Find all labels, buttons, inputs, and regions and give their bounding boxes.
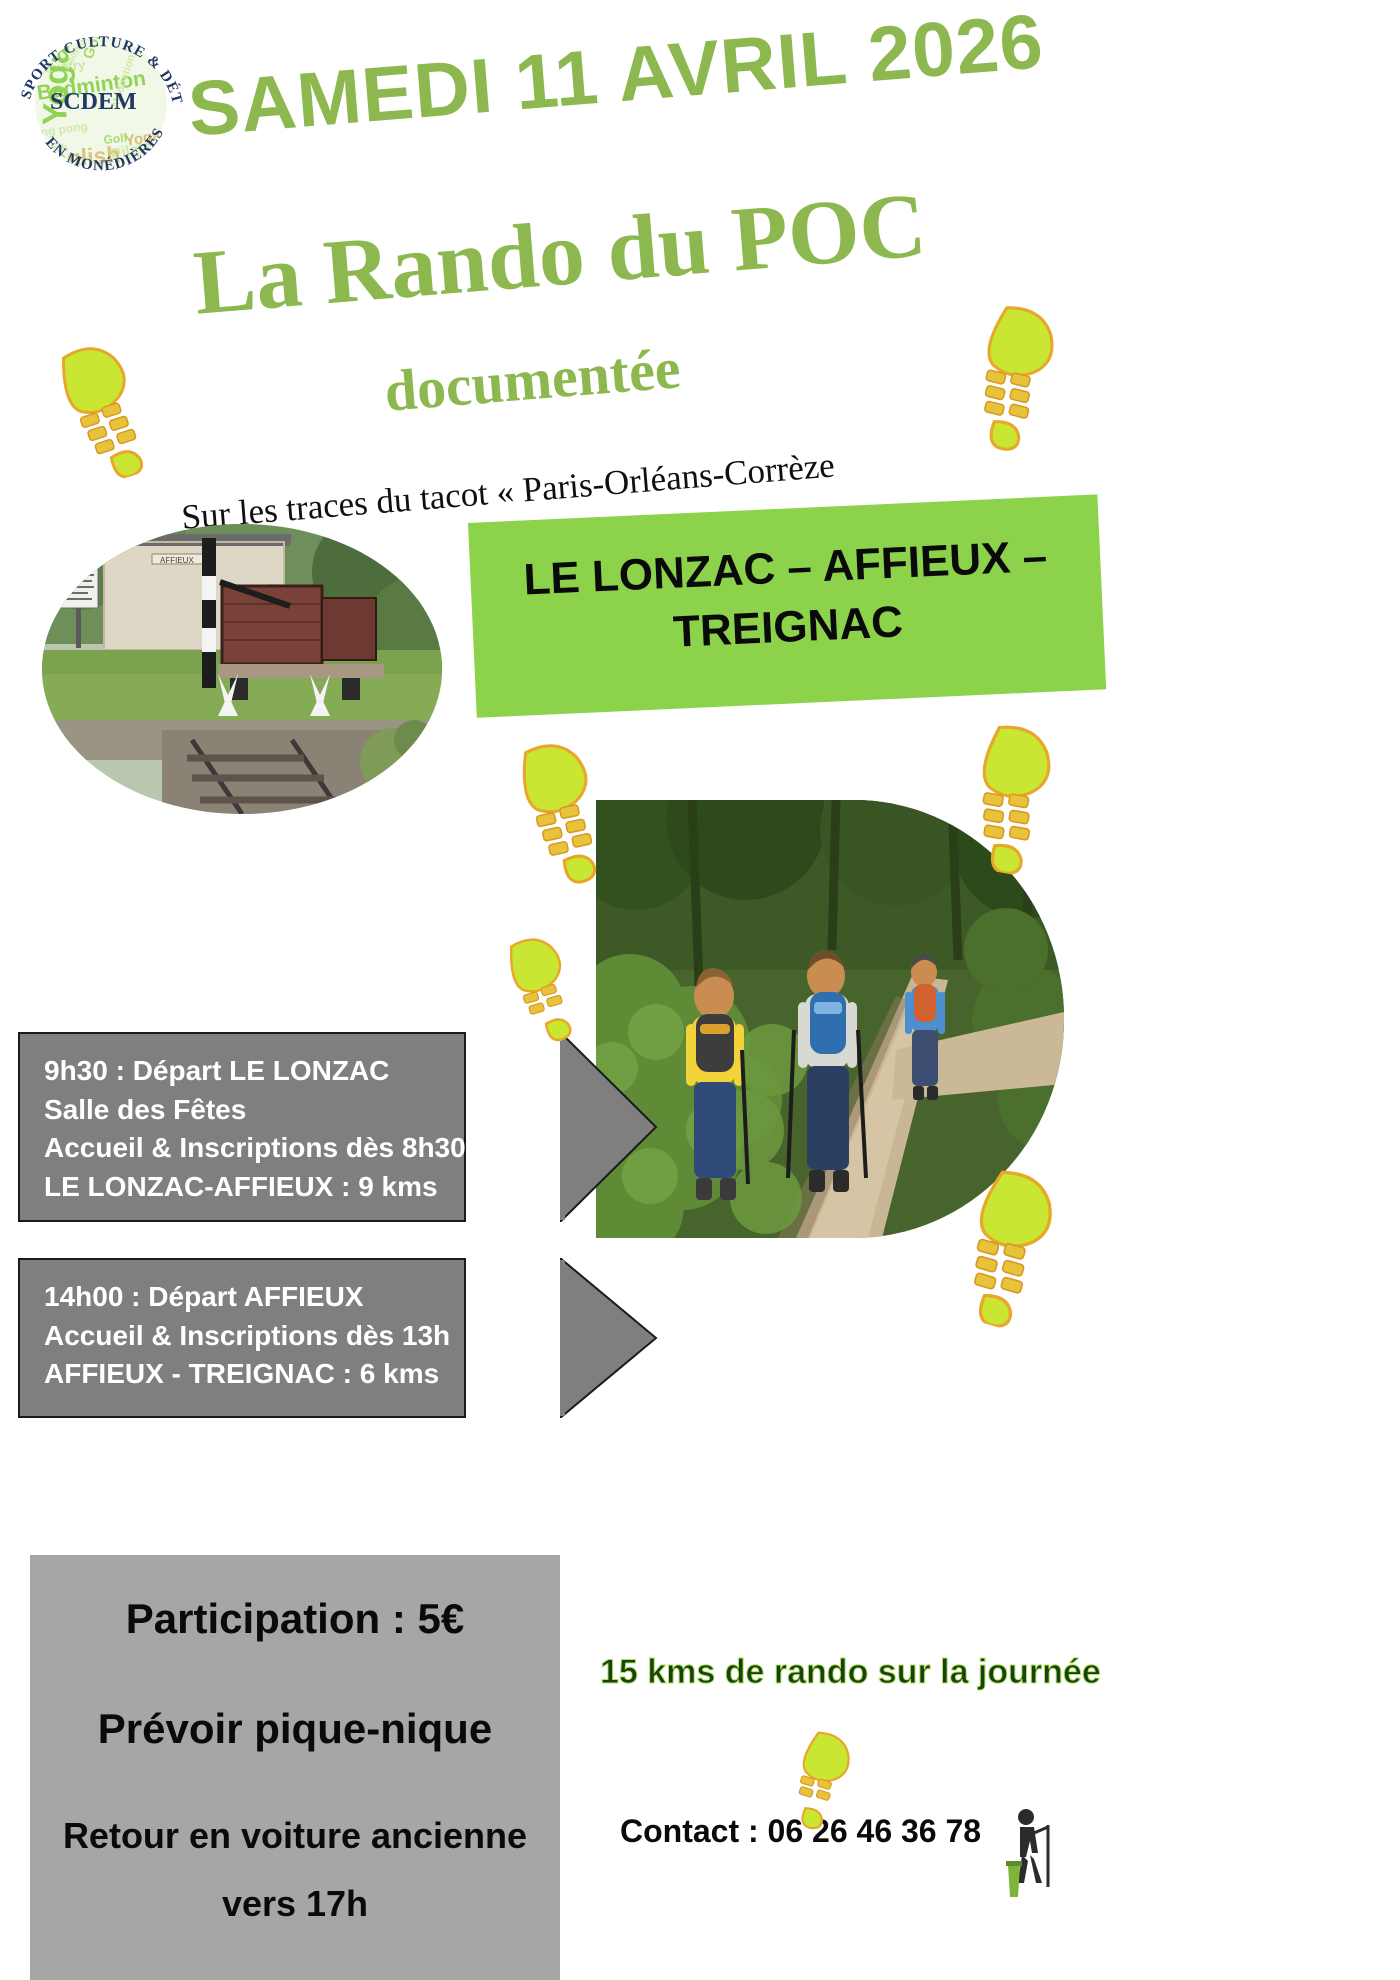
photo-station: AFFIEUX [42, 524, 442, 814]
footprint-icon [956, 715, 1077, 881]
schedule-line: AFFIEUX - TREIGNAC : 6 kms [44, 1355, 440, 1394]
scdem-logo: Country Golf Badminton Yoga Méditation P… [8, 8, 194, 194]
footprint-icon [42, 327, 173, 490]
route-banner: LE LONZAC – AFFIEUX – TREIGNAC [468, 494, 1106, 717]
schedule-line: 14h00 : Départ AFFIEUX [44, 1278, 440, 1317]
participation-return-time: vers 17h [46, 1883, 544, 1925]
schedule-box-afternoon: 14h00 : Départ AFFIEUX Accueil & Inscrip… [18, 1258, 466, 1418]
schedule-line: Salle des Fêtes [44, 1091, 440, 1130]
schedule-line: LE LONZAC-AFFIEUX : 9 kms [44, 1168, 440, 1207]
participation-price: Participation : 5€ [46, 1595, 544, 1643]
participation-picnic: Prévoir pique-nique [46, 1705, 544, 1753]
footprint-icon [495, 922, 597, 1055]
poster-root: Country Golf Badminton Yoga Méditation P… [0, 0, 1400, 1980]
page-title: La Rando du POC [190, 158, 1096, 336]
total-distance: 15 kms de rando sur la journée [600, 1653, 1101, 1692]
schedule-line: Accueil & Inscriptions dès 8h30 [44, 1129, 440, 1168]
schedule-box-morning: 9h30 : Départ LE LONZAC Salle des Fêtes … [18, 1032, 466, 1222]
logo-center-text: SCDEM [50, 89, 137, 115]
schedule-line: 9h30 : Départ LE LONZAC [44, 1052, 440, 1091]
svg-text:AFFIEUX: AFFIEUX [160, 556, 194, 565]
footprint-icon [505, 727, 626, 893]
schedule-line: Accueil & Inscriptions dès 13h [44, 1317, 440, 1356]
event-date: SAMEDI 11 AVRIL 2026 [185, 0, 1089, 155]
participation-return: Retour en voiture ancienne [46, 1815, 544, 1857]
participation-box: Participation : 5€ Prévoir pique-nique R… [30, 1555, 560, 1980]
hiker-pictogram-icon [1000, 1805, 1062, 1901]
